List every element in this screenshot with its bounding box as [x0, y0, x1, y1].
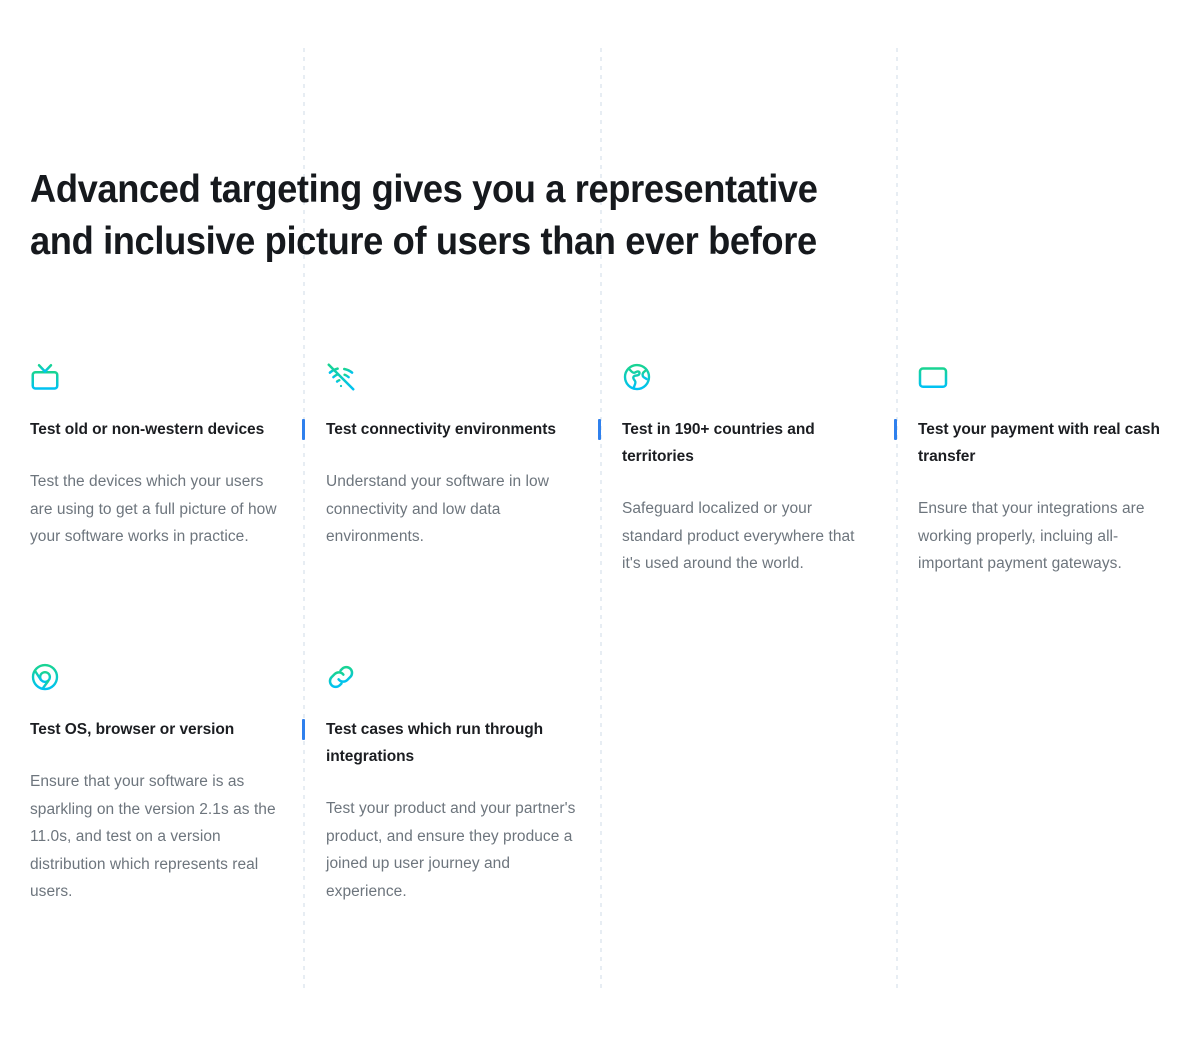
feature-card[interactable]: Test connectivity environments Understan… — [326, 362, 576, 551]
feature-card-title: Test in 190+ countries and territories — [622, 416, 872, 470]
globe-icon — [622, 362, 652, 392]
feature-card-title: Test your payment with real cash transfe… — [918, 416, 1168, 470]
feature-card[interactable]: Test old or non-western devices Test the… — [30, 362, 280, 551]
feature-card-body: Ensure that your integrations are workin… — [918, 495, 1168, 578]
feature-card[interactable]: Test OS, browser or version Ensure that … — [30, 662, 280, 906]
feature-card-title: Test OS, browser or version — [30, 716, 280, 743]
feature-card-row: Test OS, browser or version Ensure that … — [0, 662, 1200, 962]
feature-card-body: Test the devices which your users are us… — [30, 468, 280, 551]
credit-card-icon — [918, 362, 948, 392]
feature-card-body: Test your product and your partner's pro… — [326, 795, 576, 905]
feature-card[interactable]: Test your payment with real cash transfe… — [918, 362, 1168, 578]
link-icon — [326, 662, 356, 692]
feature-card-title: Test cases which run through integration… — [326, 716, 576, 770]
feature-card-row: Test old or non-western devices Test the… — [0, 362, 1200, 662]
feature-card-title: Test connectivity environments — [326, 416, 576, 443]
feature-card-body: Safeguard localized or your standard pro… — [622, 495, 872, 578]
page-title: Advanced targeting gives you a represent… — [30, 164, 839, 268]
feature-card[interactable]: Test cases which run through integration… — [326, 662, 576, 905]
feature-card-grid: Test old or non-western devices Test the… — [0, 362, 1200, 962]
feature-card[interactable]: Test in 190+ countries and territories S… — [622, 362, 872, 578]
wifi-off-icon — [326, 362, 356, 392]
feature-card-body: Ensure that your software is as sparklin… — [30, 768, 280, 906]
feature-card-title: Test old or non-western devices — [30, 416, 280, 443]
feature-card-body: Understand your software in low connecti… — [326, 468, 576, 551]
chrome-browser-icon — [30, 662, 60, 692]
tv-icon — [30, 362, 60, 392]
